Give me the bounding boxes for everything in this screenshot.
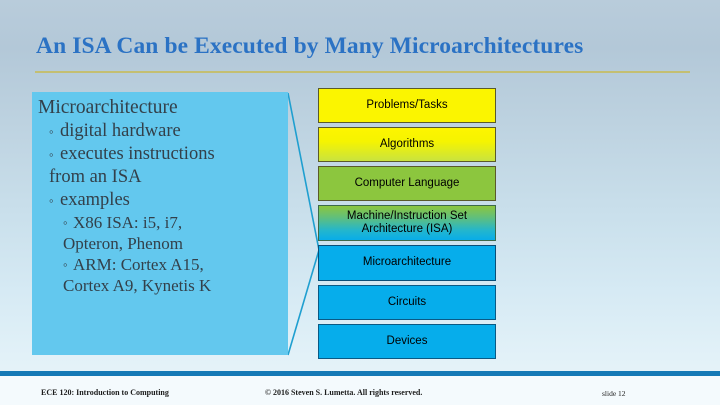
layer-label: Problems/Tasks [366, 99, 447, 113]
layer-label: Computer Language [355, 177, 460, 191]
slide-canvas: An ISA Can be Executed by Many Microarch… [0, 0, 720, 405]
footer-copyright: © 2016 Steven S. Lumetta. All rights res… [265, 388, 422, 397]
title-divider [35, 71, 690, 73]
callout-subbullet-x86: X86 ISA: i5, i7, [63, 212, 282, 233]
layer-label: Devices [387, 335, 428, 349]
callout-subbullet-x86-cont: Opteron, Phenom [63, 233, 282, 254]
layer-label: Algorithms [380, 138, 434, 152]
callout-subbullet-arm: ARM: Cortex A15, [63, 254, 282, 275]
footer-slide-number: slide 12 [602, 389, 626, 398]
page-title: An ISA Can be Executed by Many Microarch… [36, 33, 696, 60]
layer-circuits[interactable]: Circuits [318, 285, 496, 320]
callout-heading: Microarchitecture [38, 96, 282, 120]
abstraction-layer-stack: Problems/Tasks Algorithms Computer Langu… [318, 88, 496, 363]
callout-bullet-examples: examples [49, 189, 282, 212]
layer-label: Machine/Instruction Set Architecture (IS… [347, 210, 467, 237]
layer-computer-language[interactable]: Computer Language [318, 166, 496, 201]
layer-algorithms[interactable]: Algorithms [318, 127, 496, 162]
microarchitecture-callout-panel: Microarchitecture digital hardware execu… [32, 92, 288, 355]
callout-subbullet-arm-cont: Cortex A9, Kynetis K [63, 275, 282, 296]
layer-label-line2: Architecture (ISA) [362, 223, 453, 235]
layer-label-line1: Machine/Instruction Set [347, 210, 467, 222]
callout-bullet-executes-instructions: executes instructions [49, 143, 282, 166]
layer-microarchitecture[interactable]: Microarchitecture [318, 245, 496, 281]
footer-course-label: ECE 120: Introduction to Computing [41, 388, 169, 397]
layer-label: Microarchitecture [363, 256, 451, 270]
callout-text-body: Microarchitecture digital hardware execu… [32, 92, 288, 296]
callout-bullet-digital-hardware: digital hardware [49, 120, 282, 143]
layer-problems-tasks[interactable]: Problems/Tasks [318, 88, 496, 123]
callout-bullet-executes-instructions-cont: from an ISA [49, 166, 282, 189]
layer-label: Circuits [388, 296, 426, 310]
layer-machine-isa[interactable]: Machine/Instruction Set Architecture (IS… [318, 205, 496, 241]
layer-devices[interactable]: Devices [318, 324, 496, 359]
